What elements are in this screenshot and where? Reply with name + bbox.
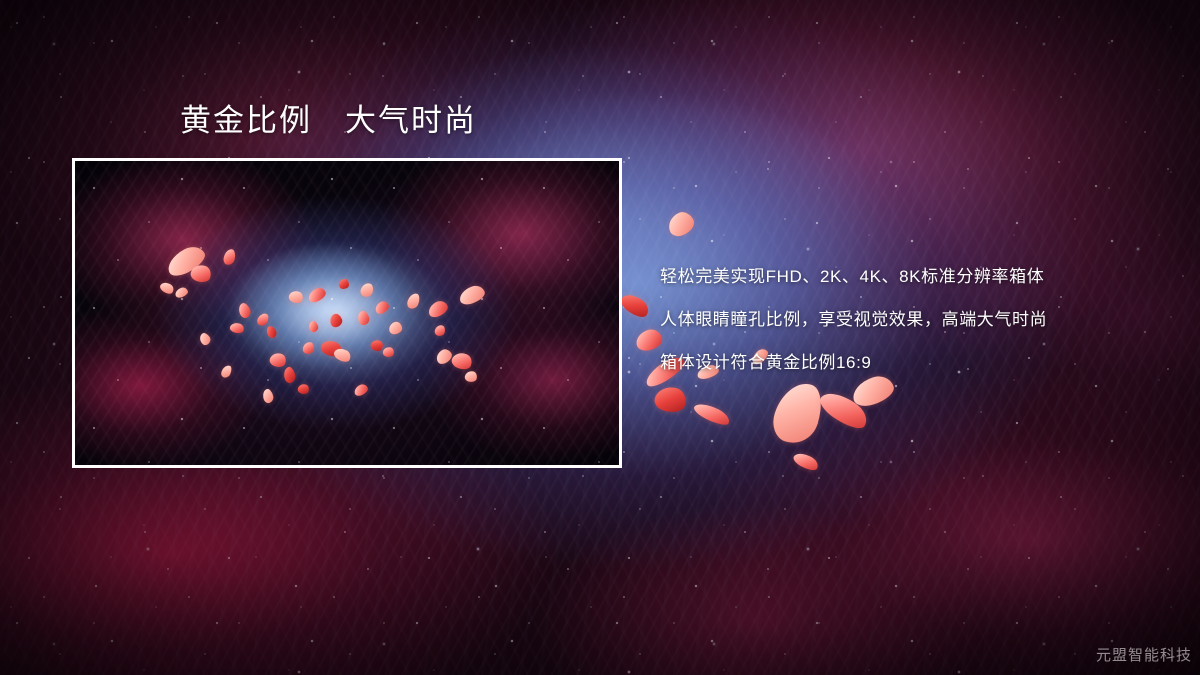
flower-petal — [791, 450, 820, 474]
watermark-label: 元盟智能科技 — [1096, 644, 1192, 665]
body-line: 人体眼睛瞳孔比例，享受视觉效果，高端大气时尚 — [660, 298, 1180, 341]
body-line: 轻松完美实现FHD、2K、4K、8K标准分辨率箱体 — [660, 255, 1180, 298]
body-line: 箱体设计符合黄金比例16:9 — [660, 341, 1180, 384]
flower-petal — [652, 384, 688, 416]
flower-petal — [816, 386, 873, 435]
slide-title: 黄金比例 大气时尚 — [180, 102, 477, 139]
framed-image-panel[interactable] — [72, 158, 622, 468]
flower-petal — [665, 209, 698, 240]
presentation-slide: 黄金比例 大气时尚 轻松完美实现FHD、2K、4K、8K标准分辨率箱体 人体眼睛… — [0, 0, 1200, 675]
body-text-block: 轻松完美实现FHD、2K、4K、8K标准分辨率箱体 人体眼睛瞳孔比例，享受视觉效… — [660, 255, 1180, 384]
flower-petal — [618, 290, 652, 321]
panel-starfield — [75, 161, 619, 465]
flower-petal — [767, 377, 828, 450]
flower-petal — [692, 399, 732, 428]
